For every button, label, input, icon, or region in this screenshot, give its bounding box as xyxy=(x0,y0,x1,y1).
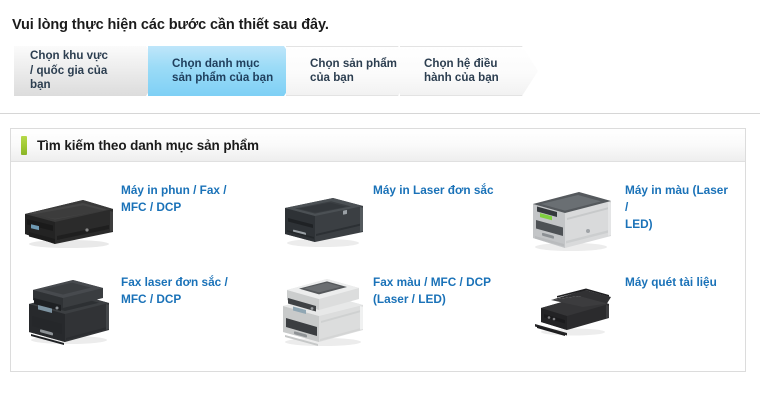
step-os[interactable]: Chọn hệ điều hành của bạn xyxy=(400,46,538,96)
category-grid: Máy in phun / Fax / MFC / DCP xyxy=(11,162,745,358)
step-category[interactable]: Chọn danh mục sản phẩm của bạn xyxy=(148,46,300,96)
step-product-label: Chọn sản phẩm của bạn xyxy=(310,57,397,86)
category-row: Fax laser đơn sắc / MFC / DCP xyxy=(17,266,739,358)
category-label: Fax màu / MFC / DCP (Laser / LED) xyxy=(373,266,497,308)
step-category-label: Chọn danh mục sản phẩm của bạn xyxy=(172,57,273,86)
category-item-color-printer-laser-led[interactable]: Máy in màu (Laser / LED) xyxy=(521,174,739,254)
category-label: Máy in Laser đơn sắc xyxy=(373,174,500,199)
category-item-mono-laser-printer[interactable]: Máy in Laser đơn sắc xyxy=(271,174,521,254)
step-os-label: Chọn hệ điều hành của bạn xyxy=(424,57,499,86)
category-panel: Tìm kiếm theo danh mục sản phẩm xyxy=(10,128,746,372)
step-breadcrumb: Chọn khu vực / quốc gia của bạn Chọn dan… xyxy=(14,46,538,96)
mono-laser-mfc-icon xyxy=(17,266,119,346)
category-label: Máy quét tài liệu xyxy=(625,266,723,291)
product-category-selection-page: Vui lòng thực hiện các bước cần thiết sa… xyxy=(0,0,760,400)
category-item-color-fax-mfc-dcp[interactable]: Fax màu / MFC / DCP (Laser / LED) xyxy=(271,266,521,346)
mono-laser-printer-icon xyxy=(271,174,373,254)
green-accent-bar-icon xyxy=(21,136,27,155)
step-region[interactable]: Chọn khu vực / quốc gia của bạn xyxy=(14,46,162,96)
breadcrumb-divider xyxy=(0,113,760,114)
step-product[interactable]: Chọn sản phẩm của bạn xyxy=(286,46,414,96)
category-item-mono-laser-fax-mfc-dcp[interactable]: Fax laser đơn sắc / MFC / DCP xyxy=(17,266,271,346)
category-panel-header: Tìm kiếm theo danh mục sản phẩm xyxy=(11,129,745,162)
category-item-inkjet-fax-mfc-dcp[interactable]: Máy in phun / Fax / MFC / DCP xyxy=(17,174,271,254)
color-laser-printer-icon xyxy=(521,174,623,254)
category-label: Fax laser đơn sắc / MFC / DCP xyxy=(121,266,234,308)
category-panel-title: Tìm kiếm theo danh mục sản phẩm xyxy=(37,138,259,153)
category-label: Máy in màu (Laser / LED) xyxy=(625,174,739,233)
category-label: Máy in phun / Fax / MFC / DCP xyxy=(121,174,233,216)
category-row: Máy in phun / Fax / MFC / DCP xyxy=(17,174,739,266)
step-region-label: Chọn khu vực / quốc gia của bạn xyxy=(30,49,108,93)
color-laser-mfc-icon xyxy=(271,266,373,346)
page-title: Vui lòng thực hiện các bước cần thiết sa… xyxy=(12,17,329,33)
document-scanner-icon xyxy=(521,266,623,346)
category-item-document-scanner[interactable]: Máy quét tài liệu xyxy=(521,266,739,346)
inkjet-mfc-printer-icon xyxy=(17,174,119,254)
